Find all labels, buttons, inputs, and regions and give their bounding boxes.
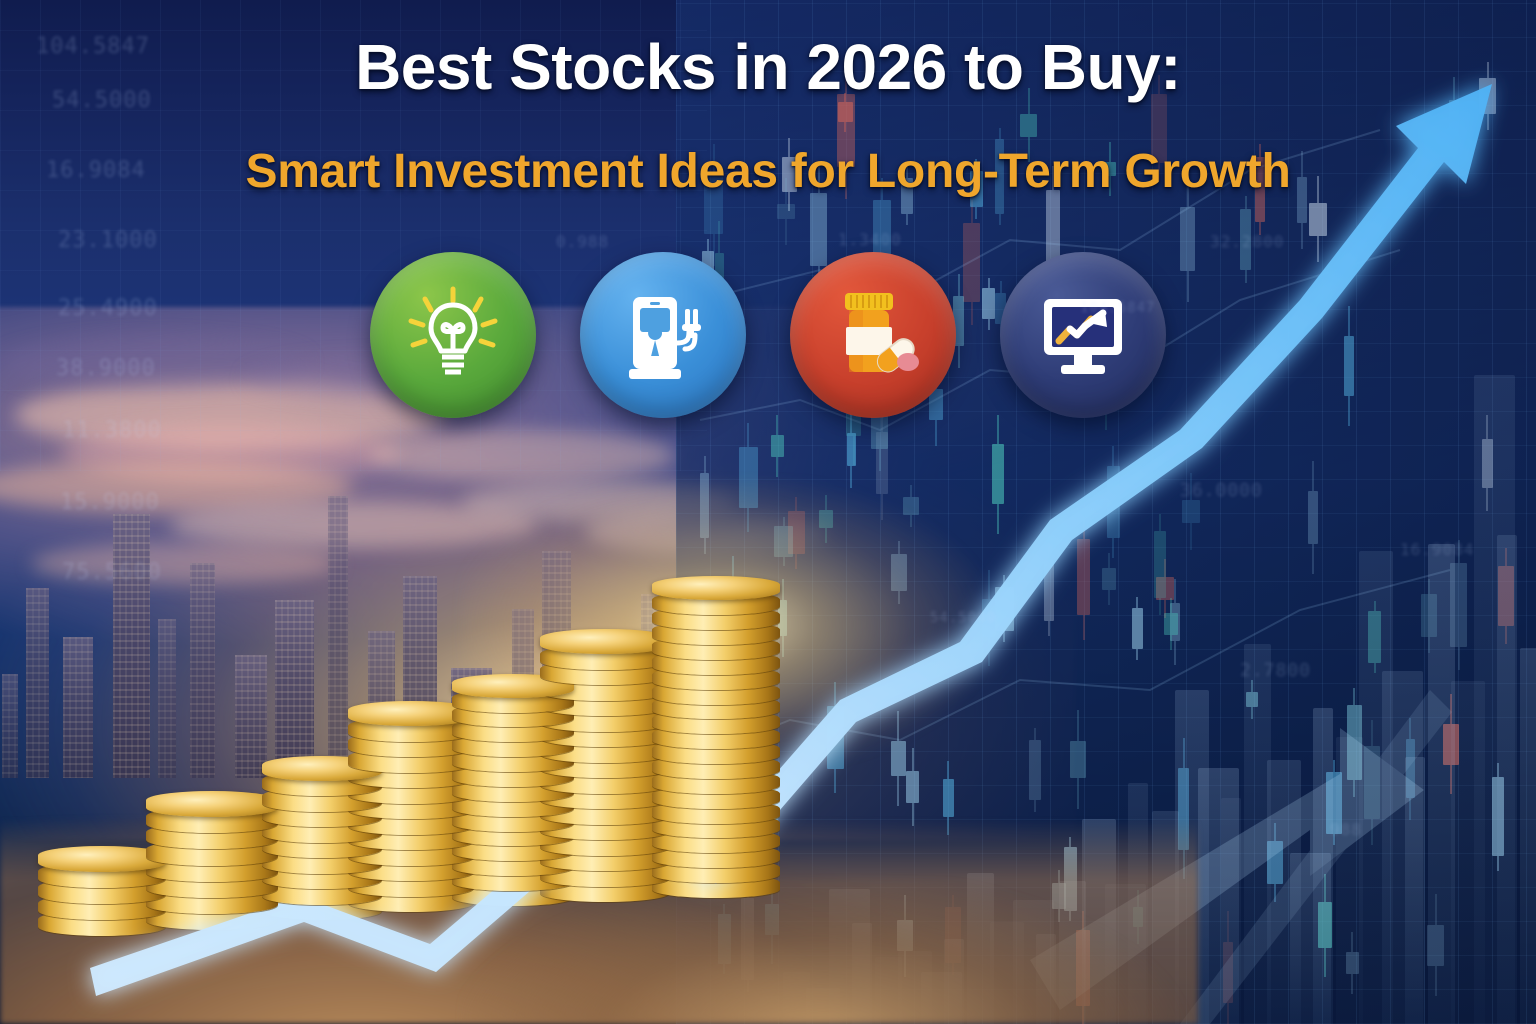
banner-canvas: Best Stocks in 2026 to Buy: Smart Invest… xyxy=(0,0,1536,1024)
category-icon-row xyxy=(0,252,1536,418)
coin-stack xyxy=(652,560,780,898)
page-subtitle: Smart Investment Ideas for Long-Term Gro… xyxy=(0,146,1536,198)
page-title: Best Stocks in 2026 to Buy: xyxy=(0,34,1536,102)
lightbulb-icon[interactable] xyxy=(370,252,536,418)
ev-charger-icon[interactable] xyxy=(580,252,746,418)
coin-stack xyxy=(146,775,278,930)
monitor-growth-icon[interactable] xyxy=(1000,252,1166,418)
pill-bottle-icon[interactable] xyxy=(790,252,956,418)
coin-stack xyxy=(452,657,574,906)
coin-stack xyxy=(540,613,670,903)
